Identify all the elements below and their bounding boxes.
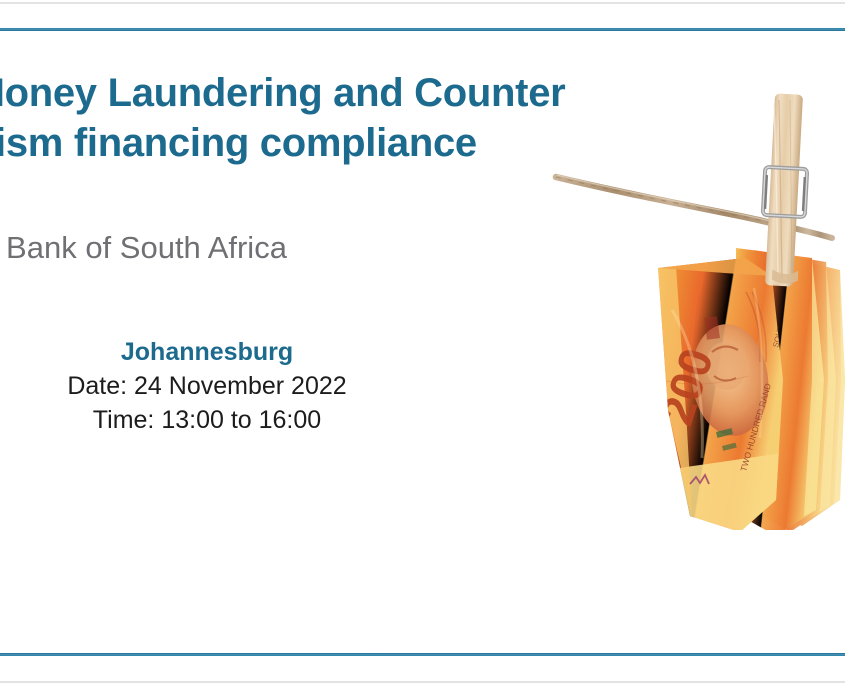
- money-on-washing-line-illustration: 200 TWO HUNDRED RAND SOUTH AFRICAN RESER…: [540, 80, 845, 530]
- event-details: Johannesburg Date: 24 November 2022 Time…: [0, 336, 414, 437]
- event-date: Date: 24 November 2022: [0, 369, 414, 403]
- title-line-2: Terrorism financing compliance: [0, 118, 502, 168]
- money-laundering-photo: 200 TWO HUNDRED RAND SOUTH AFRICAN RESER…: [540, 80, 845, 530]
- event-city: Johannesburg: [0, 336, 414, 369]
- bottom-gray-divider: [0, 681, 845, 683]
- event-time: Time: 13:00 to 16:00: [0, 403, 414, 437]
- title-line-1: Anti-Money Laundering and Counter: [0, 68, 502, 118]
- page-subtitle: Reserve Bank of South Africa: [0, 228, 502, 268]
- bottom-teal-divider: [0, 653, 845, 656]
- page-title: Anti-Money Laundering and Counter Terror…: [0, 68, 502, 168]
- top-gray-divider: [0, 2, 845, 4]
- presentation-slide: Anti-Money Laundering and Counter Terror…: [0, 0, 845, 684]
- top-teal-divider: [0, 28, 845, 31]
